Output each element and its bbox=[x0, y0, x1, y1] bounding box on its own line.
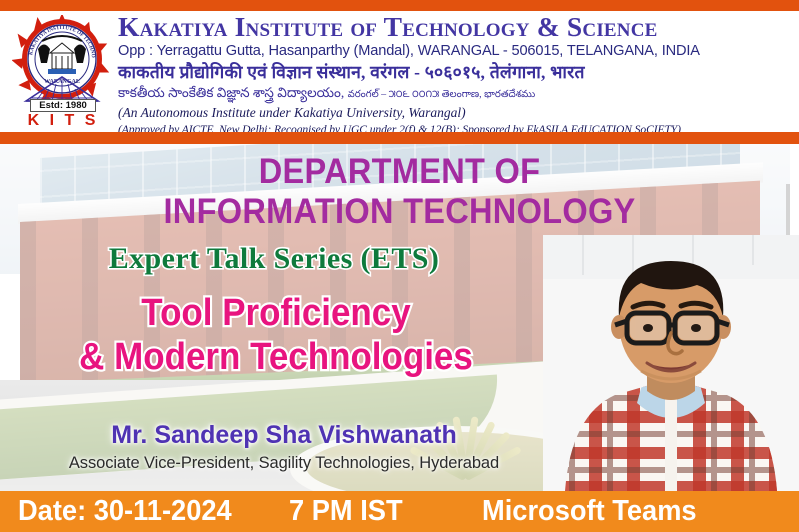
institute-name: Kakatiya Institute of Technology & Scien… bbox=[118, 11, 794, 42]
top-accent-band bbox=[0, 0, 799, 11]
speaker-portrait-illustration bbox=[543, 235, 799, 491]
institute-name-telugu-main: కాకతీయ సాంకేతిక విజ్ఞాన శాస్త్ర విద్యాలయ… bbox=[118, 85, 344, 100]
speaker-photograph bbox=[543, 235, 799, 491]
letterhead-text: Kakatiya Institute of Technology & Scien… bbox=[118, 11, 794, 138]
department-title: DEPARTMENT OF INFORMATION TECHNOLOGY bbox=[28, 152, 771, 232]
event-topic-line2: & Modern Technologies bbox=[28, 335, 525, 379]
seal-established-label: Estd: 1980 bbox=[30, 99, 96, 112]
event-details-bar: Date: 30-11-2024 7 PM IST Microsoft Team… bbox=[0, 491, 799, 532]
institute-letterhead: KAKATIYA INSTITUTE OF TECHNOLOGY & SCIEN… bbox=[0, 11, 799, 132]
event-date: Date: 30-11-2024 bbox=[18, 495, 232, 528]
speaker-designation: Associate Vice-President, Sagility Techn… bbox=[14, 453, 554, 473]
institute-name-telugu: కాకతీయ సాంకేతిక విజ్ఞాన శాస్త్ర విద్యాలయ… bbox=[118, 83, 794, 104]
event-time: 7 PM IST bbox=[289, 495, 403, 528]
event-topic-line1: Tool Proficiency bbox=[28, 291, 525, 335]
institute-name-telugu-address: వరంగల్ – ౫౦౬ ౦౦౧౫ తెలంగాణ, భారతదేశము bbox=[348, 89, 536, 100]
event-topic-title: Tool Proficiency & Modern Technologies bbox=[28, 291, 525, 379]
poster-body: DEPARTMENT OF INFORMATION TECHNOLOGY Exp… bbox=[0, 144, 799, 491]
event-platform: Microsoft Teams bbox=[482, 495, 697, 528]
event-series-title: Expert Talk Series (ETS) bbox=[14, 242, 534, 276]
institute-address: Opp : Yerragattu Gutta, Hasanparthy (Man… bbox=[118, 42, 794, 61]
department-title-line1: DEPARTMENT OF bbox=[28, 152, 771, 192]
institute-name-hindi: काकतीय प्रौद्योगिकी एवं विज्ञान संस्थान,… bbox=[118, 61, 794, 83]
department-title-line2: INFORMATION TECHNOLOGY bbox=[28, 192, 771, 232]
institute-autonomous-note: (An Autonomous Institute under Kakatiya … bbox=[118, 104, 794, 122]
header-separator-band bbox=[0, 132, 799, 144]
event-poster: KAKATIYA INSTITUTE OF TECHNOLOGY & SCIEN… bbox=[0, 0, 799, 532]
institute-seal-logo: KAKATIYA INSTITUTE OF TECHNOLOGY & SCIEN… bbox=[12, 15, 112, 133]
speaker-name: Mr. Sandeep Sha Vishwanath bbox=[14, 421, 554, 450]
